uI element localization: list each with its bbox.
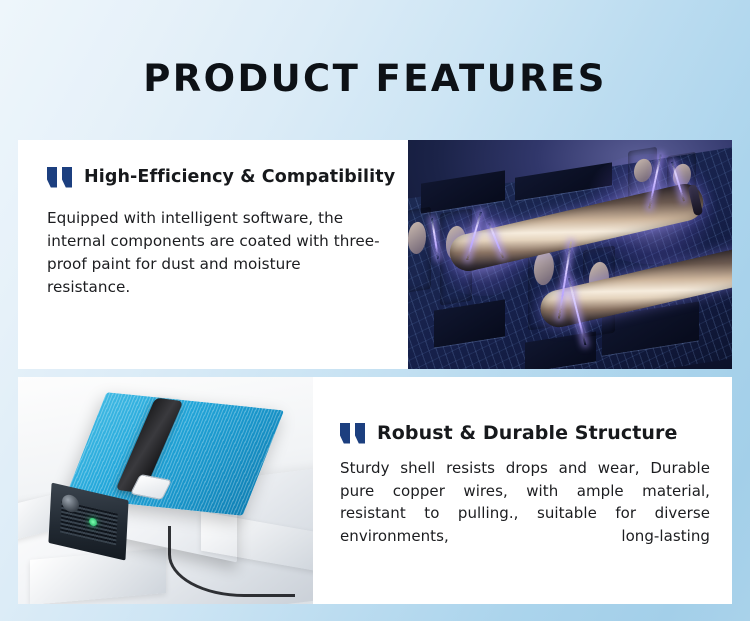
feature-body-text: Sturdy shell resists drops and wear, Dur… bbox=[340, 457, 710, 570]
feature-card-high-efficiency: High-Efficiency & Compatibility Equipped… bbox=[18, 140, 732, 369]
feature-heading: High-Efficiency & Compatibility bbox=[84, 166, 395, 188]
feature-image-inverter bbox=[18, 377, 313, 604]
feature-body-text: Equipped with intelligent software, the … bbox=[47, 207, 384, 299]
quote-icon bbox=[47, 167, 73, 188]
quote-icon bbox=[340, 423, 366, 444]
feature-card-text-panel: Robust & Durable Structure Sturdy shell … bbox=[313, 377, 732, 604]
inverter-product-illustration bbox=[18, 377, 313, 604]
circuit-board-illustration bbox=[408, 140, 732, 369]
feature-heading-row: Robust & Durable Structure bbox=[340, 422, 710, 444]
feature-card-robust-structure: Robust & Durable Structure Sturdy shell … bbox=[18, 377, 732, 604]
feature-image-circuit-board bbox=[408, 140, 732, 369]
page-title: PRODUCT FEATURES bbox=[0, 57, 750, 101]
product-features-page: PRODUCT FEATURES High-Efficiency & Compa… bbox=[0, 0, 750, 621]
feature-heading: Robust & Durable Structure bbox=[377, 422, 678, 444]
feature-heading-row: High-Efficiency & Compatibility bbox=[47, 166, 384, 188]
feature-card-text-panel: High-Efficiency & Compatibility Equipped… bbox=[18, 140, 408, 369]
